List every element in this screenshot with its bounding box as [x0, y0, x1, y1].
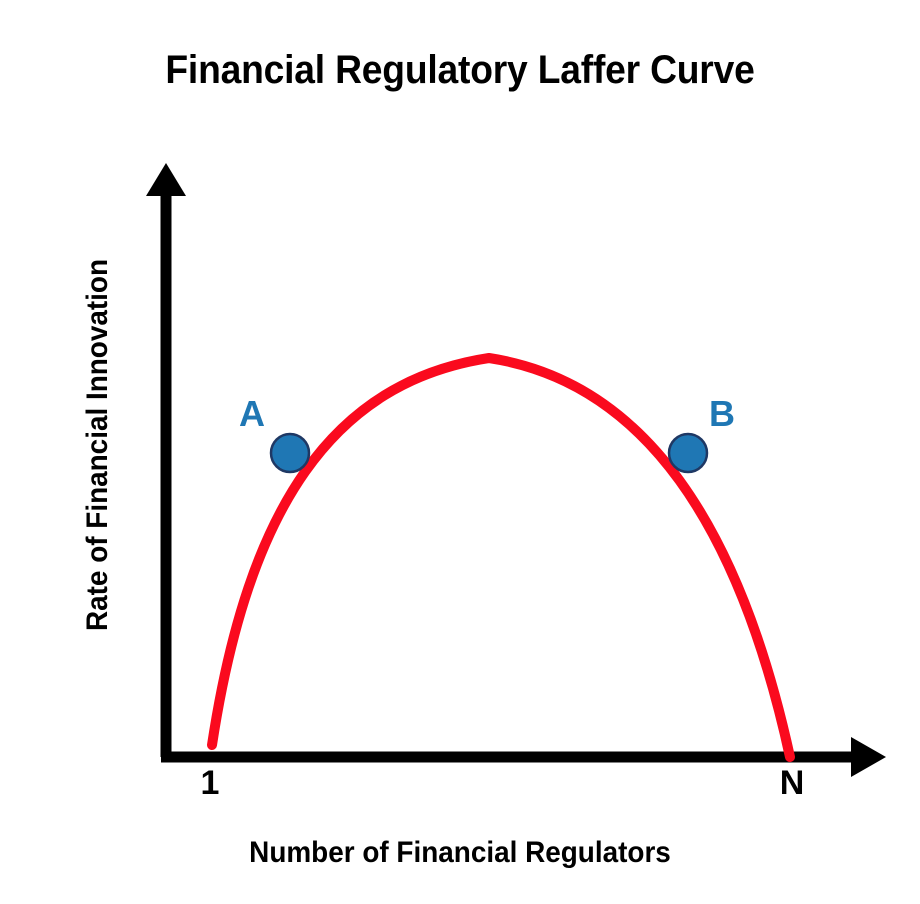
x-axis-tick-label-1: 1 — [170, 764, 250, 803]
y-axis-arrow-icon — [146, 163, 186, 196]
x-axis-title: Number of Financial Regulators — [32, 836, 888, 870]
chart-canvas: Financial Regulatory Laffer Curve A B 1 … — [0, 0, 920, 904]
x-axis-arrow-icon — [851, 737, 886, 777]
data-point-a-marker[interactable] — [271, 434, 309, 472]
data-point-b-marker[interactable] — [669, 434, 707, 472]
data-point-b-label: B — [692, 393, 752, 435]
data-point-a-label: A — [222, 393, 282, 435]
y-axis-title: Rate of Financial Innovation — [81, 166, 115, 724]
x-axis-tick-label-n: N — [752, 764, 832, 803]
